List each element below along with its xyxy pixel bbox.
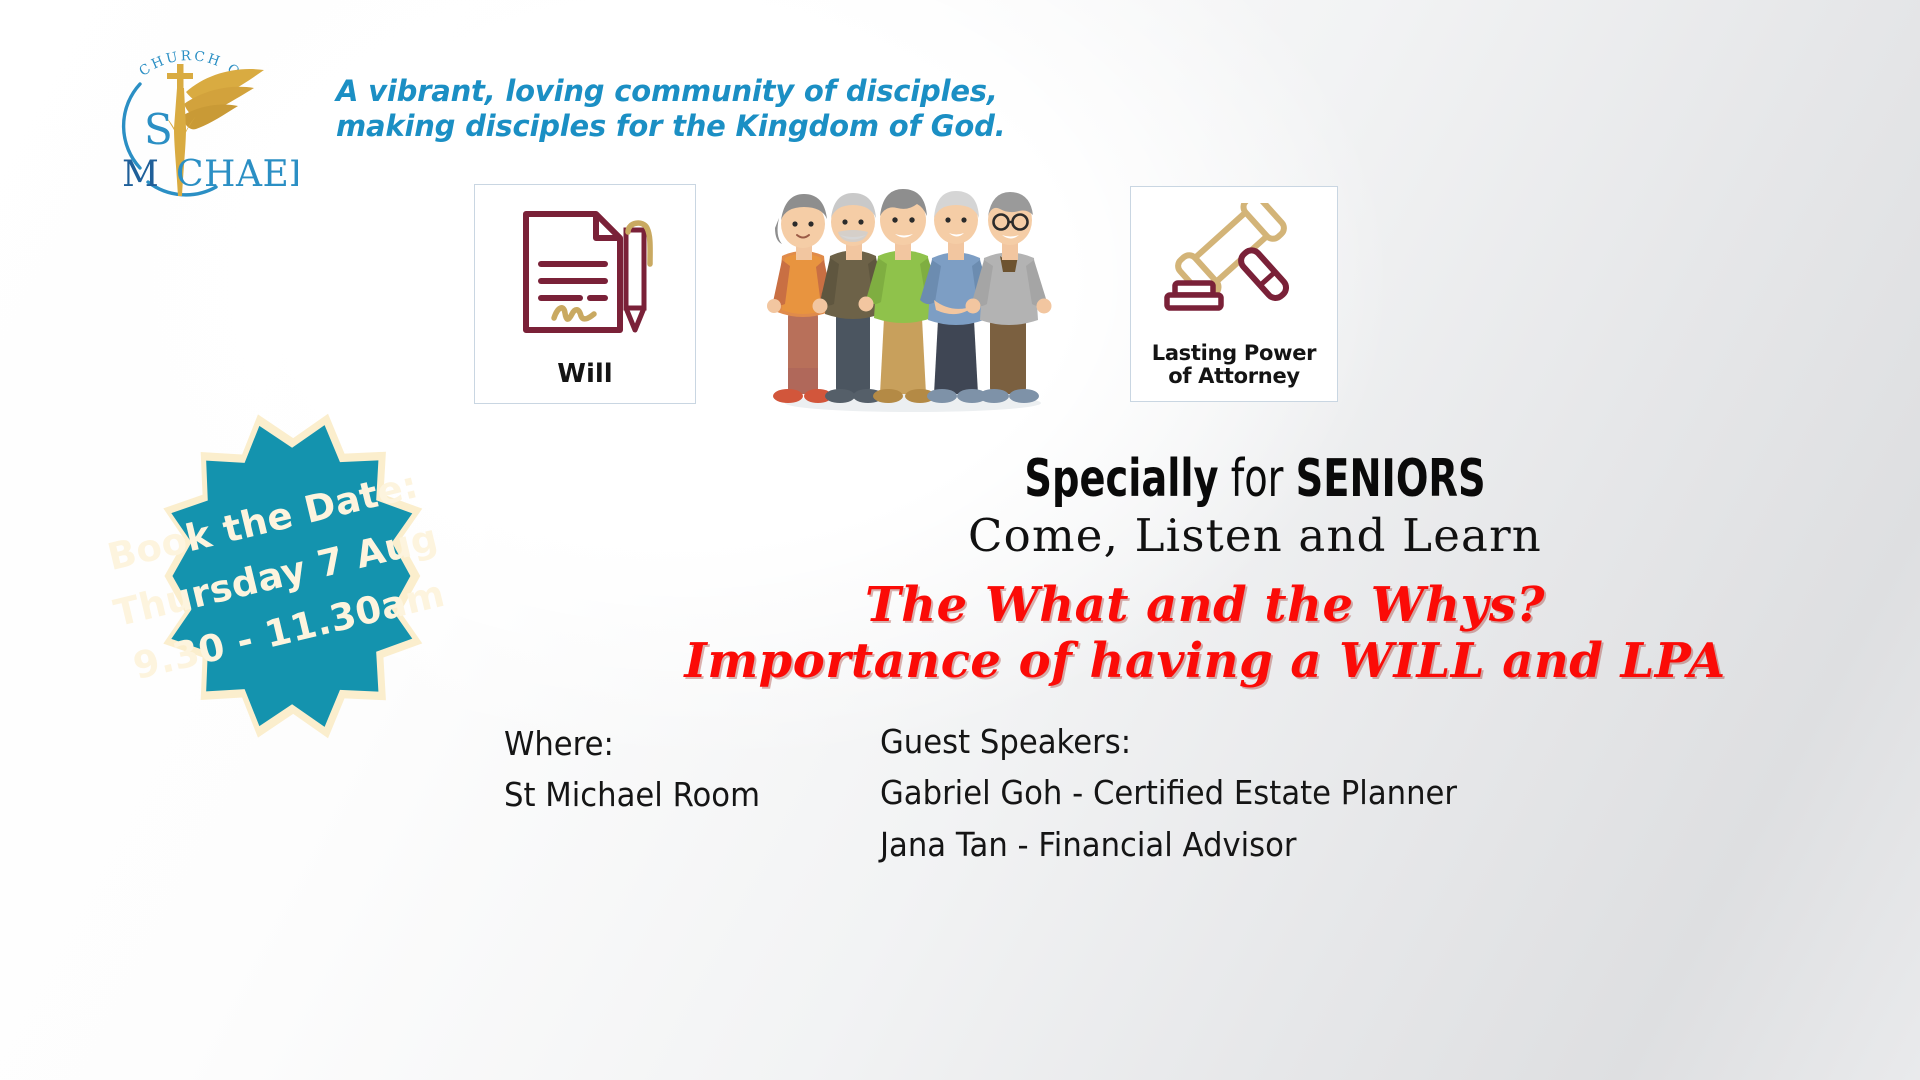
book-the-date-badge: Book the Date: Thursday 7 Aug 9.30 - 11.… xyxy=(56,404,496,748)
where-block: Where: St Michael Room xyxy=(504,718,760,821)
speakers-block: Guest Speakers: Gabriel Goh - Certified … xyxy=(880,716,1457,870)
where-value: St Michael Room xyxy=(504,769,760,820)
headline-seniors: SENIORS xyxy=(1296,449,1486,509)
logo-letter-s: S xyxy=(144,105,173,154)
headline-come-listen-learn: Come, Listen and Learn xyxy=(660,512,1850,559)
card-lpa-caption-line-2: of Attorney xyxy=(1168,364,1300,388)
logo-wordmark: M xyxy=(122,154,159,195)
headline-specially: Specially xyxy=(1024,449,1218,509)
headline-specially-for-seniors: Specially for SENIORS xyxy=(767,452,1743,506)
subtitle-line-1: The What and the Whys? xyxy=(560,578,1850,634)
event-poster: CHURCH OF S M CHAEL A vibrant, loving co… xyxy=(0,0,1920,1080)
document-pen-icon xyxy=(475,185,695,360)
where-label: Where: xyxy=(504,718,760,769)
speakers-label: Guest Speakers: xyxy=(880,716,1457,767)
card-lpa: Lasting Power of Attorney xyxy=(1130,186,1338,402)
card-lpa-caption-line-1: Lasting Power xyxy=(1152,341,1317,365)
tagline-line-1: A vibrant, loving community of disciples… xyxy=(336,74,936,109)
gavel-icon xyxy=(1131,187,1337,342)
tagline-line-2: making disciples for the Kingdom of God. xyxy=(336,109,936,144)
card-will-caption: Will xyxy=(475,360,695,403)
speaker-2: Jana Tan - Financial Advisor xyxy=(880,819,1457,870)
seniors-group-illustration xyxy=(752,172,1074,414)
subtitle-line-2: Importance of having a WILL and LPA xyxy=(560,634,1850,690)
card-lpa-caption: Lasting Power of Attorney xyxy=(1131,342,1337,401)
subtitle-script: The What and the Whys? Importance of hav… xyxy=(560,578,1850,689)
church-tagline: A vibrant, loving community of disciples… xyxy=(336,74,936,145)
svg-text:CHAEL: CHAEL xyxy=(176,154,298,195)
church-logo: CHURCH OF S M CHAEL xyxy=(78,32,298,202)
speaker-1: Gabriel Goh - Certified Estate Planner xyxy=(880,767,1457,818)
headline-for: for xyxy=(1219,449,1296,509)
card-will: Will xyxy=(474,184,696,404)
